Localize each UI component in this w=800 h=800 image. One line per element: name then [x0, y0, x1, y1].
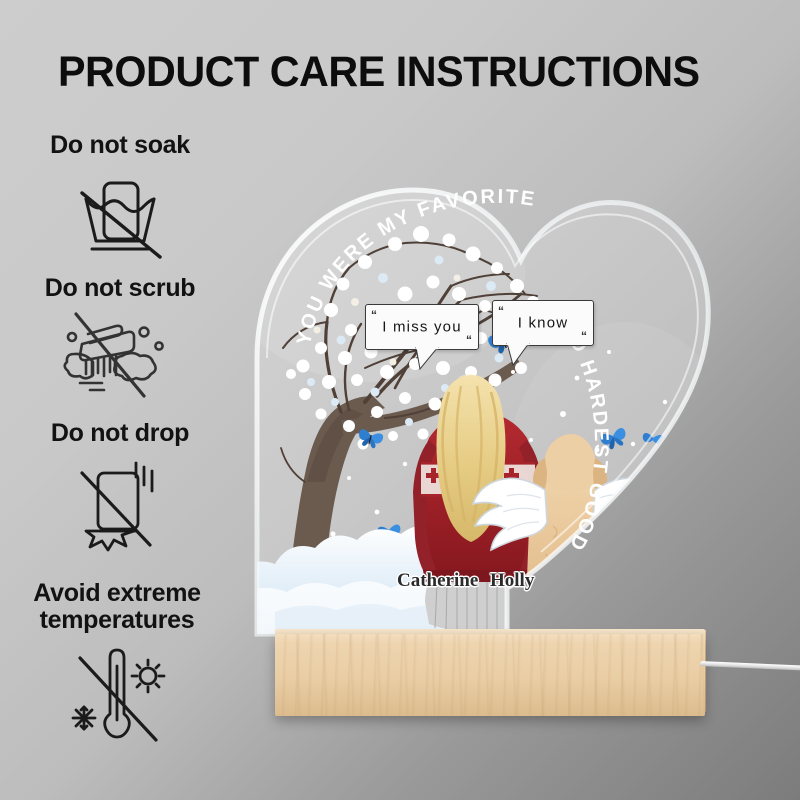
page-title: PRODUCT CARE INSTRUCTIONS: [58, 48, 700, 97]
name-label-holly: Holly: [490, 570, 534, 592]
no-soak-icon: [0, 165, 245, 265]
power-cable: [700, 661, 800, 671]
speech-bubble-i-miss-you: “ I miss you “: [365, 304, 479, 350]
care-instruction-do-not-scrub: Do not scrub: [0, 275, 245, 400]
care-instruction-do-not-drop: Do not drop: [0, 420, 245, 557]
product-image: YOU WERE MY FAVORITE HELLO AND HARDEST G…: [245, 182, 745, 722]
no-scrub-icon: [0, 308, 245, 400]
care-instruction-avoid-extreme-temperatures: Avoid extreme temperatures: [0, 580, 242, 748]
quote-close-icon: “: [581, 330, 587, 342]
speech-bubble-text-1: I miss you: [366, 319, 478, 336]
care-label-do-not-scrub: Do not scrub: [0, 275, 245, 302]
wood-grain-texture: [275, 634, 705, 716]
care-instruction-do-not-soak: Do not soak: [0, 132, 245, 265]
care-label-avoid-extreme-temperatures-line1: Avoid extreme: [0, 580, 242, 607]
speech-bubble-i-know: “ I know “: [492, 300, 594, 346]
product-care-instructions-page: PRODUCT CARE INSTRUCTIONS Do not soak Do…: [0, 0, 800, 800]
wooden-led-base: [275, 634, 705, 716]
care-label-avoid-extreme-temperatures-line2: temperatures: [0, 607, 242, 634]
no-drop-icon: [0, 453, 245, 557]
acrylic-heart-plaque: YOU WERE MY FAVORITE HELLO AND HARDEST G…: [245, 182, 715, 642]
care-label-do-not-drop: Do not drop: [0, 420, 245, 447]
quote-close-icon: “: [466, 334, 472, 346]
name-label-catherine: Catherine: [397, 570, 478, 592]
care-label-do-not-soak: Do not soak: [0, 132, 245, 159]
speech-bubble-text-2: I know: [493, 315, 593, 332]
no-extreme-temperature-icon: [0, 640, 242, 748]
